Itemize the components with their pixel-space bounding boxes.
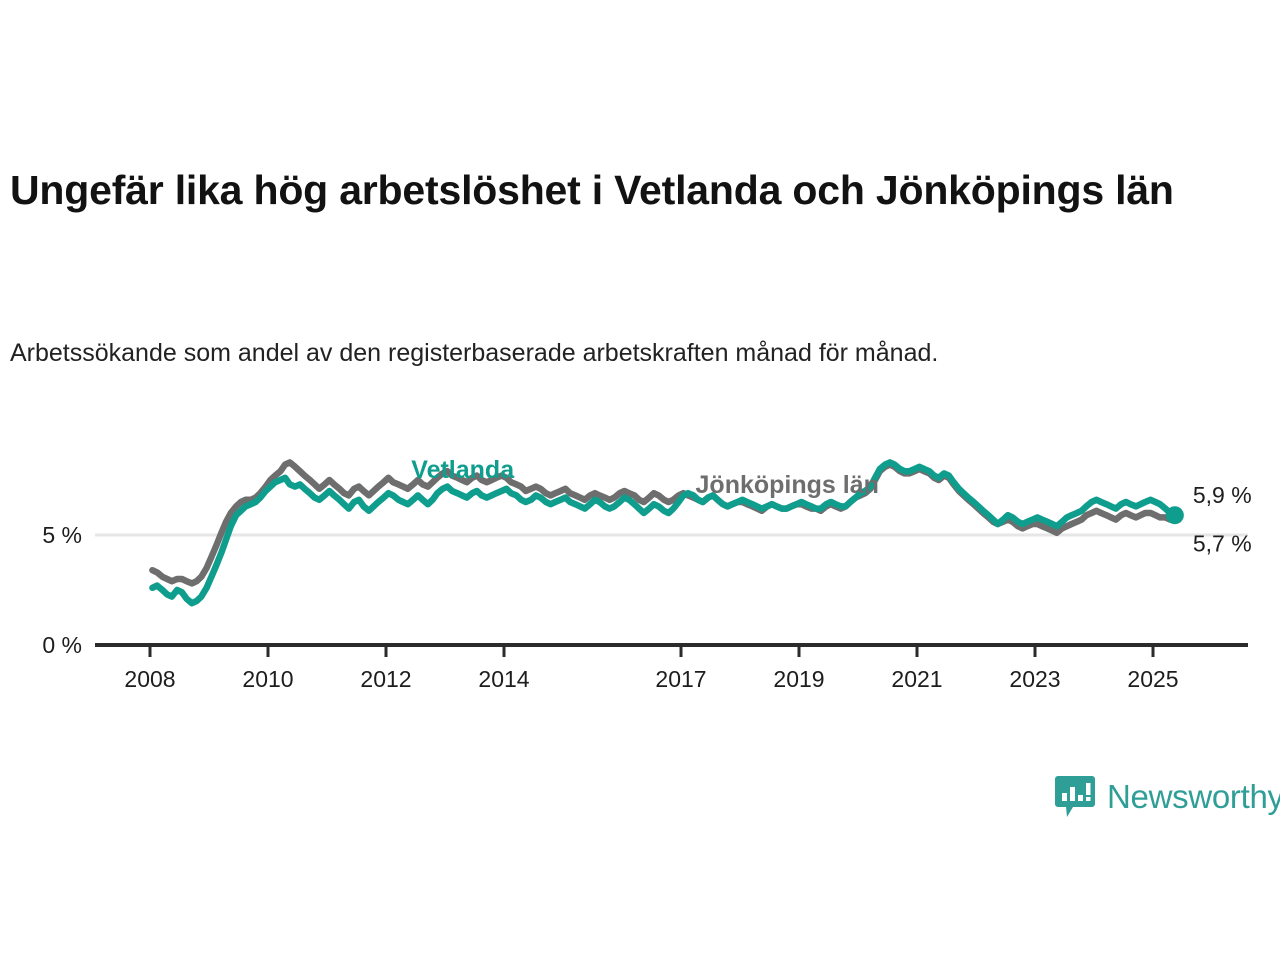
x-axis-label: 2017 — [655, 666, 706, 692]
page-subtitle: Arbetssökande som andel av den registerb… — [10, 337, 1190, 370]
x-axis-label: 2008 — [124, 666, 175, 692]
end-value-label-vetlanda: 5,9 % — [1193, 482, 1252, 508]
end-value-label-j-nk-pings-l-n: 5,7 % — [1193, 531, 1252, 557]
x-axis-label: 2012 — [360, 666, 411, 692]
chart-canvas: 0 %5 %2008201020122014201720192021202320… — [0, 420, 1280, 710]
page-title: Ungefär lika hög arbetslöshet i Vetlanda… — [10, 167, 1268, 215]
x-axis-label: 2023 — [1009, 666, 1060, 692]
x-axis-label: 2014 — [478, 666, 529, 692]
x-axis-label: 2010 — [242, 666, 293, 692]
newsworthy-logo[interactable]: Newsworthy — [1055, 770, 1280, 824]
y-axis-label: 0 % — [42, 632, 82, 658]
chart-bubble-icon — [1055, 775, 1095, 819]
y-axis-label: 5 % — [42, 522, 82, 548]
x-axis-label: 2019 — [773, 666, 824, 692]
logo-wordmark: Newsworthy — [1107, 778, 1280, 816]
x-axis-label: 2021 — [891, 666, 942, 692]
chart-page: Ungefär lika hög arbetslöshet i Vetlanda… — [0, 0, 1280, 960]
true — [1166, 506, 1184, 524]
x-axis-label: 2025 — [1127, 666, 1178, 692]
line-chart: 0 %5 %2008201020122014201720192021202320… — [0, 420, 1280, 710]
series-line-vetlanda — [152, 462, 1174, 603]
series-annotation-vetlanda: Vetlanda — [411, 456, 515, 484]
series-annotation-jönköpings-län: Jönköpings län — [696, 471, 879, 499]
